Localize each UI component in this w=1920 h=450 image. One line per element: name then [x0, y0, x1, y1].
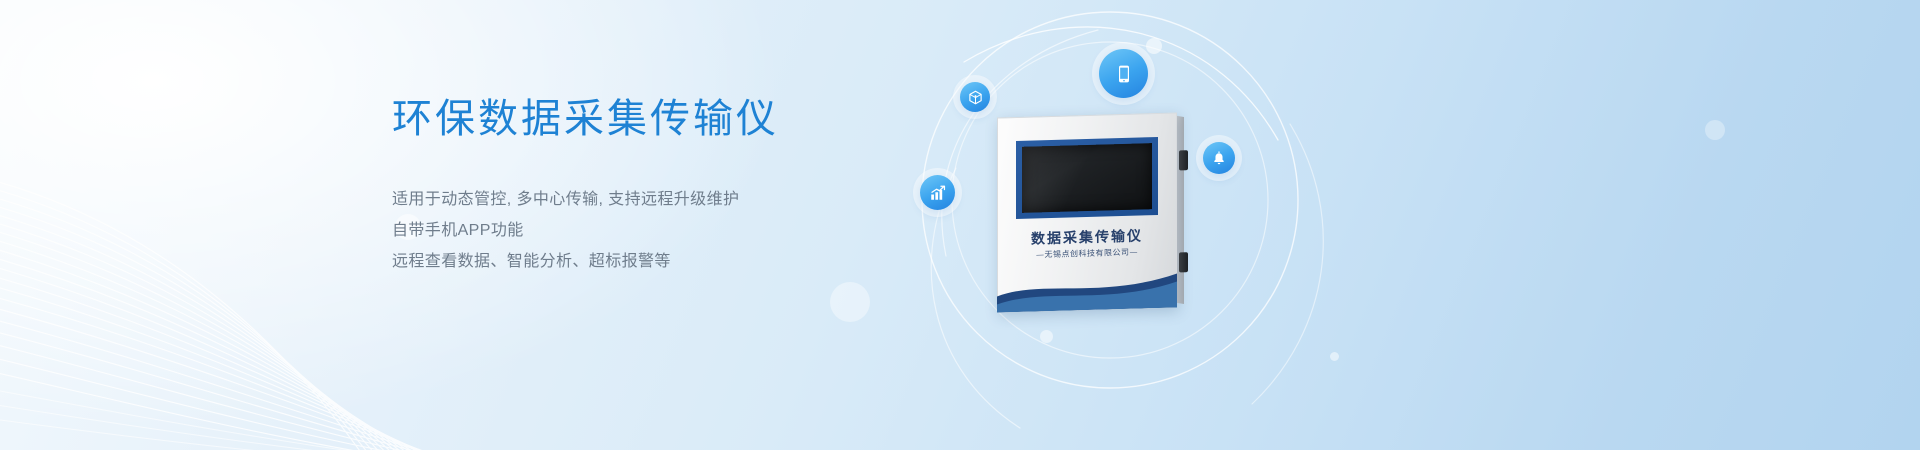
- bar-chart-growth-icon[interactable]: [920, 175, 955, 210]
- subtitle-line-3: 远程查看数据、智能分析、超标报警等: [392, 246, 912, 277]
- product-banner: 环保数据采集传输仪 适用于动态管控, 多中心传输, 支持远程升级维护 自带手机A…: [0, 0, 1920, 450]
- subtitle-line-2: 自带手机APP功能: [392, 215, 912, 246]
- cabinet-side-edge: [1176, 116, 1184, 304]
- cube-box-icon[interactable]: [960, 82, 990, 112]
- banner-copy: 环保数据采集传输仪 适用于动态管控, 多中心传输, 支持远程升级维护 自带手机A…: [392, 96, 912, 277]
- cabinet-hinge: [1179, 150, 1188, 170]
- banner-subtitle-list: 适用于动态管控, 多中心传输, 支持远程升级维护 自带手机APP功能 远程查看数…: [392, 184, 912, 277]
- alarm-bell-icon[interactable]: [1203, 142, 1235, 174]
- banner-title: 环保数据采集传输仪: [392, 96, 912, 142]
- device-display: [1022, 143, 1152, 213]
- subtitle-line-1: 适用于动态管控, 多中心传输, 支持远程升级维护: [392, 184, 912, 215]
- mobile-phone-icon[interactable]: [1099, 49, 1148, 98]
- cabinet-wave-graphic: [997, 261, 1177, 312]
- cabinet-hinge: [1179, 252, 1188, 272]
- data-acquisition-cabinet: 数据采集传输仪 —无锡点创科技有限公司—: [997, 112, 1177, 312]
- bokeh-dot: [1705, 120, 1725, 140]
- product-visual: 数据采集传输仪 —无锡点创科技有限公司—: [860, 0, 1480, 450]
